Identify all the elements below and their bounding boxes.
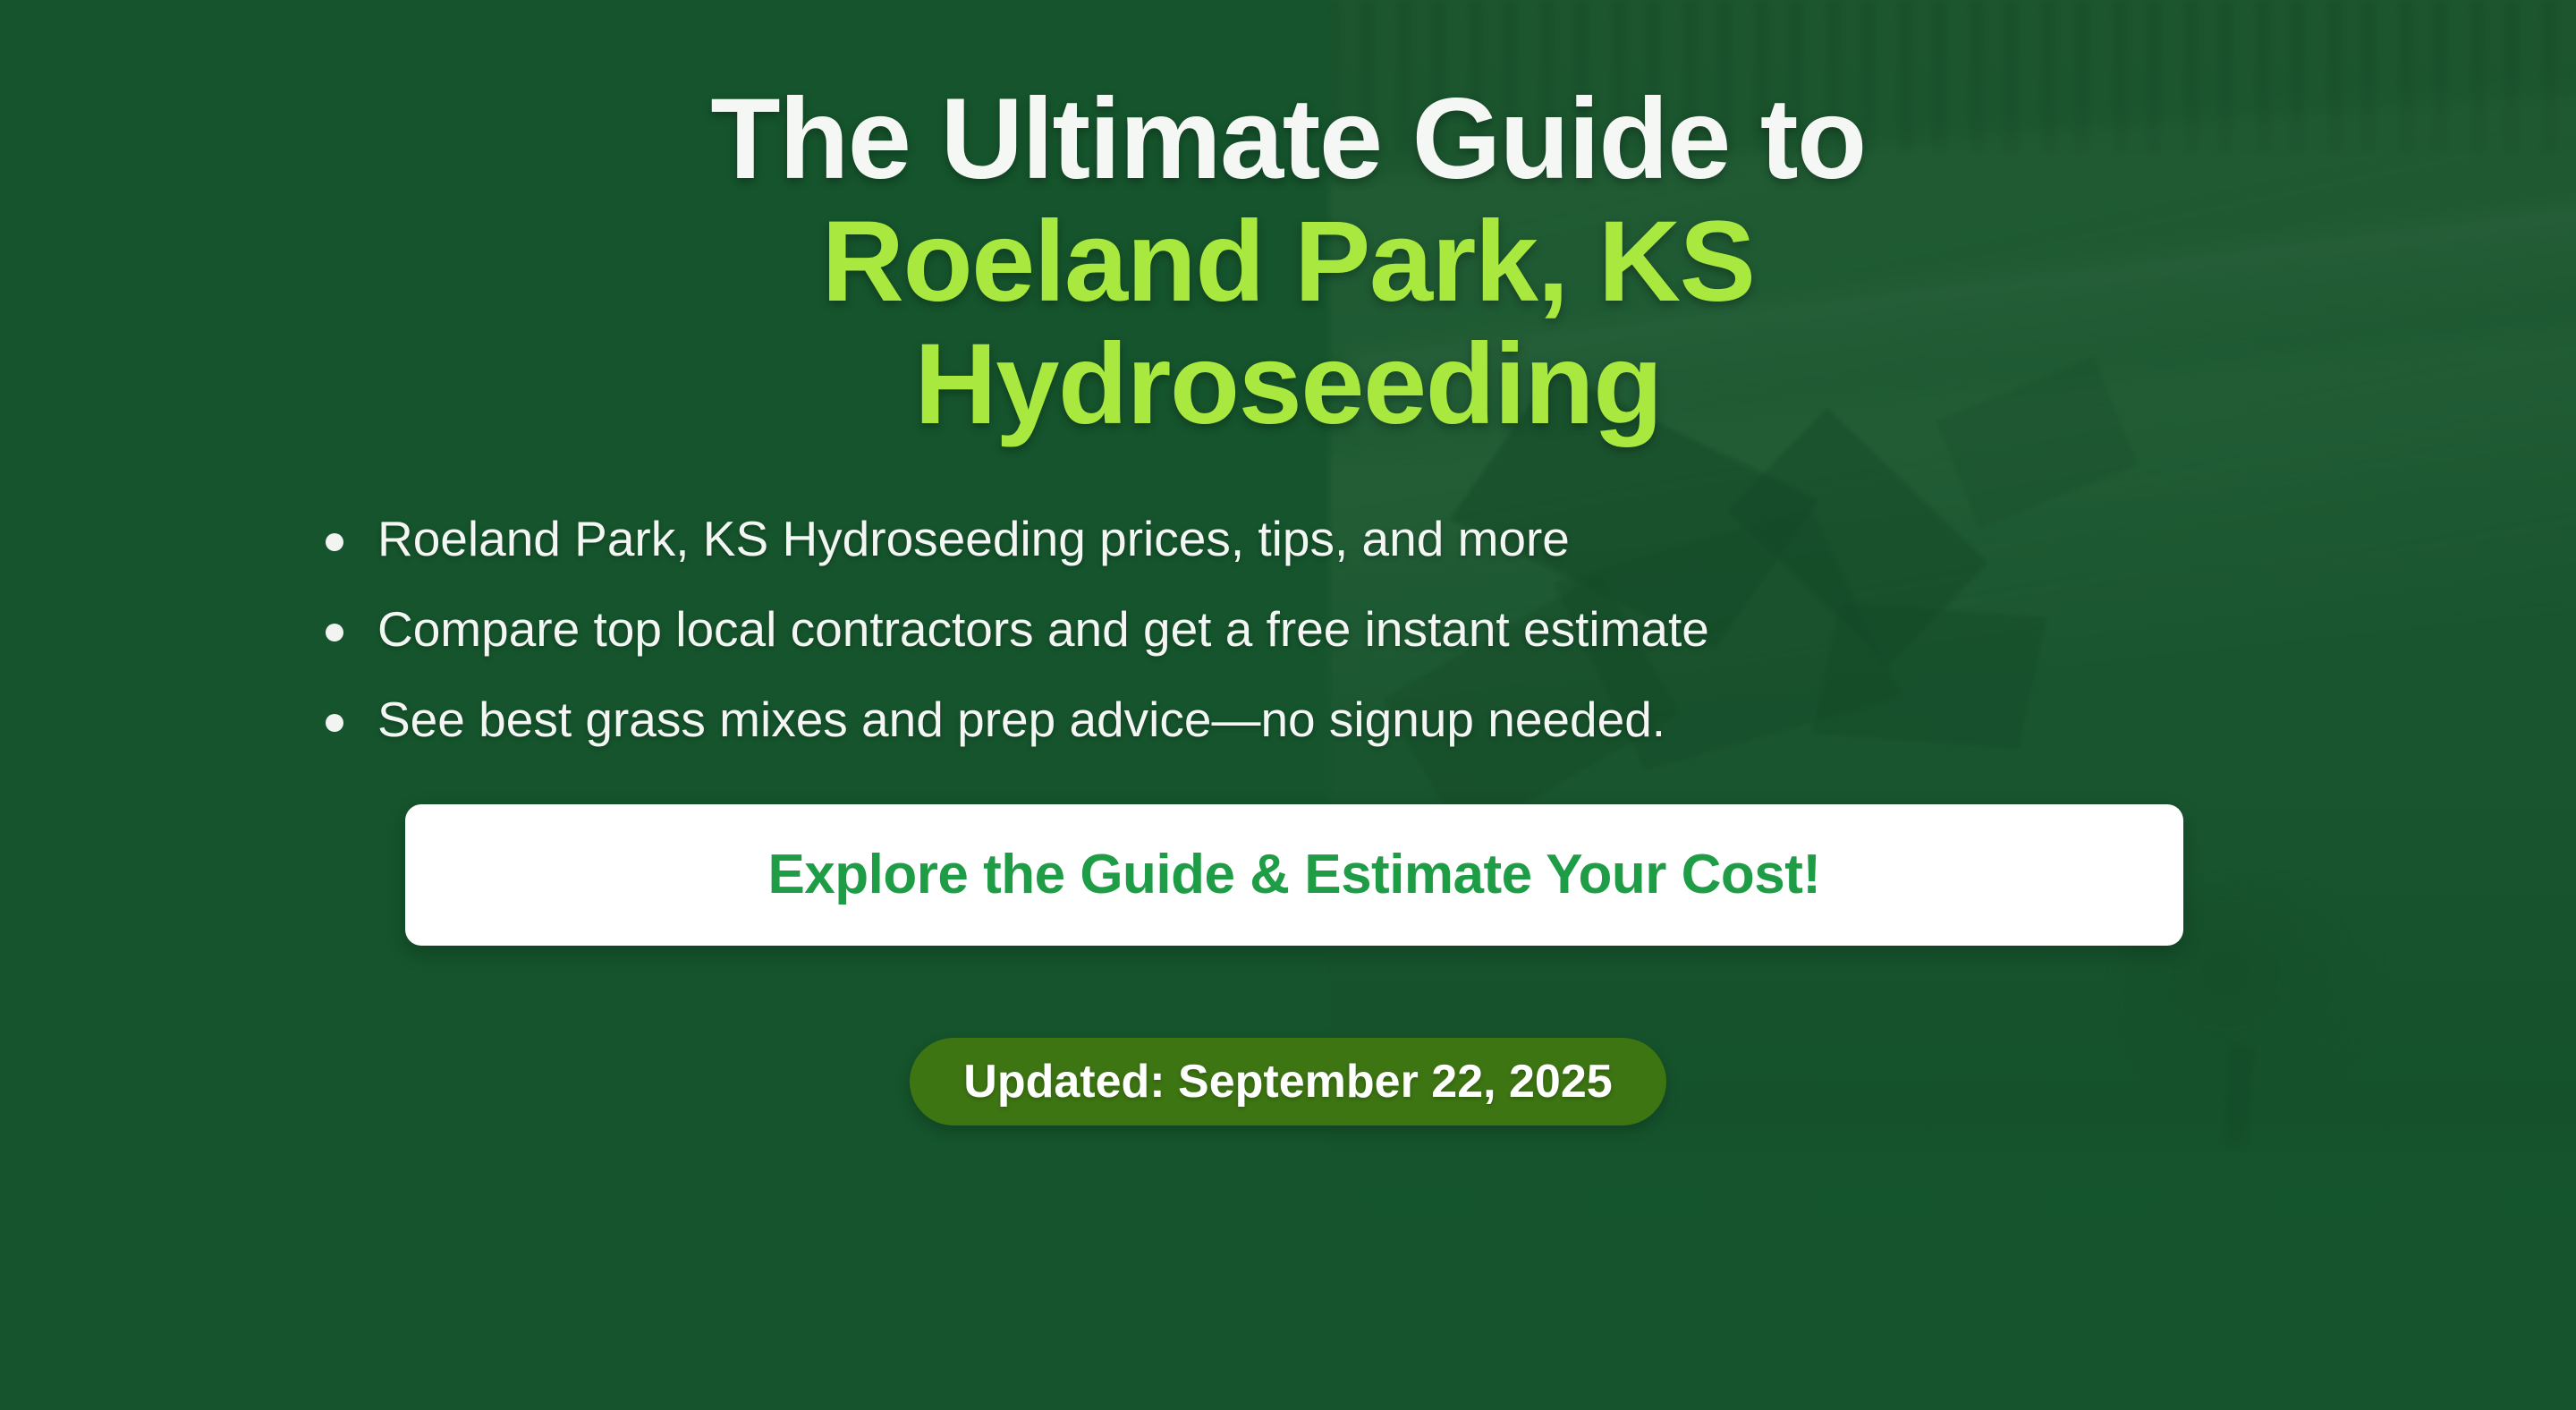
headline-line-3: Hydroseeding [313,324,2263,446]
hero-content: The Ultimate Guide to Roeland Park, KS H… [0,0,2576,1410]
hero-banner: The Ultimate Guide to Roeland Park, KS H… [0,0,2576,1410]
list-item-label: See best grass mixes and prep advice—no … [377,692,1665,748]
explore-guide-button[interactable]: Explore the Guide & Estimate Your Cost! [405,804,2183,946]
list-item: See best grass mixes and prep advice—no … [326,692,2263,748]
explore-guide-button-label: Explore the Guide & Estimate Your Cost! [767,843,1820,906]
bullet-dot-icon [326,714,343,732]
list-item: Compare top local contractors and get a … [326,601,2263,658]
updated-badge: Updated: September 22, 2025 [910,1038,1665,1125]
page-title: The Ultimate Guide to Roeland Park, KS H… [313,79,2263,446]
benefits-list: Roeland Park, KS Hydroseeding prices, ti… [313,511,2263,749]
list-item-label: Roeland Park, KS Hydroseeding prices, ti… [377,511,1570,567]
list-item-label: Compare top local contractors and get a … [377,601,1709,658]
updated-badge-label: Updated: September 22, 2025 [963,1055,1612,1108]
bullet-dot-icon [326,624,343,641]
bullet-dot-icon [326,533,343,551]
list-item: Roeland Park, KS Hydroseeding prices, ti… [326,511,2263,567]
headline-line-2: Roeland Park, KS [313,201,2263,324]
headline-line-1: The Ultimate Guide to [313,79,2263,201]
